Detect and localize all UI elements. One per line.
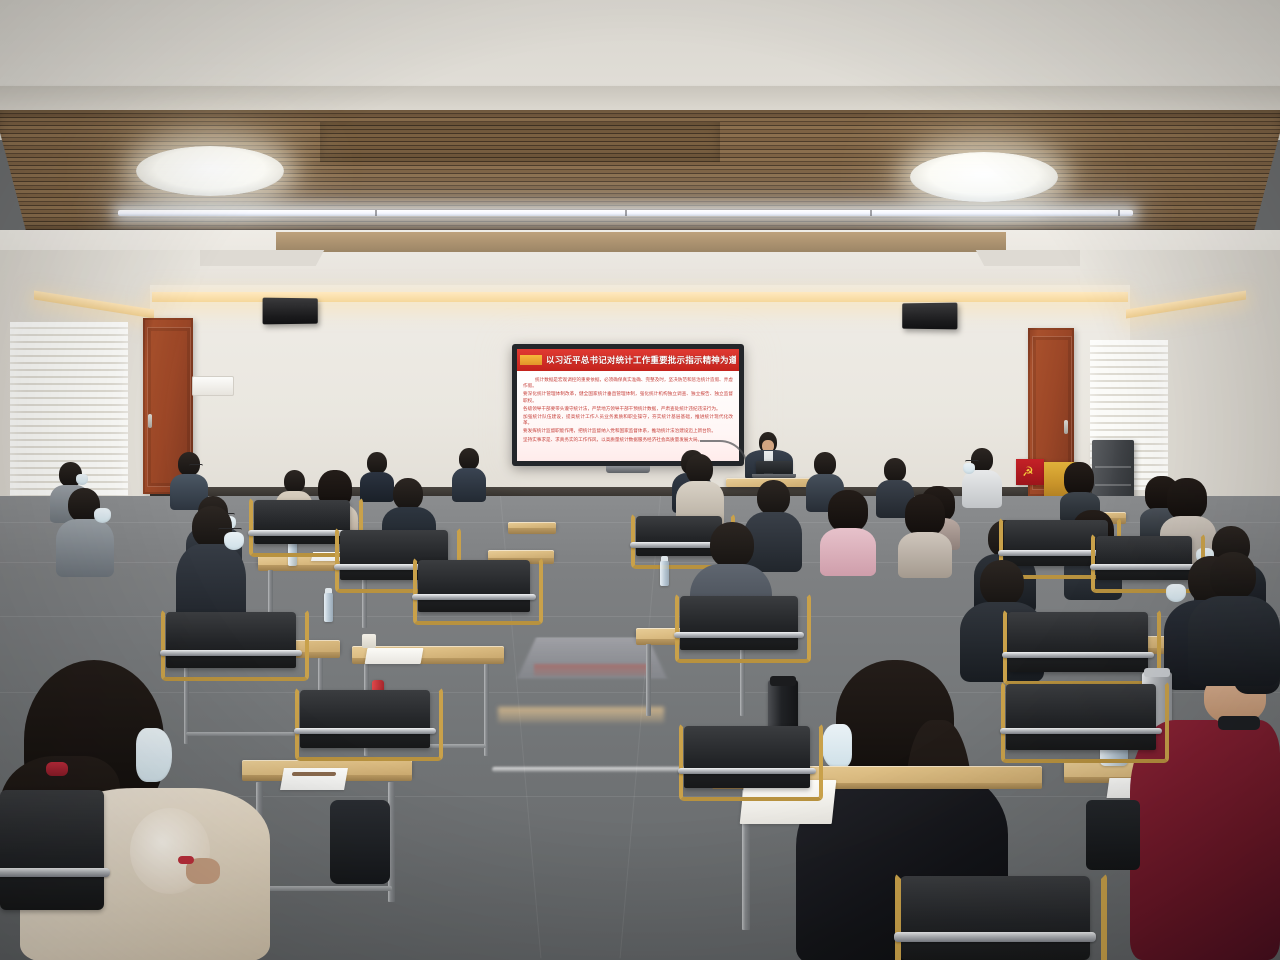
attendee	[1188, 552, 1280, 682]
glasses-icon	[189, 464, 203, 472]
hammer-sickle-icon: ☭	[1021, 465, 1035, 479]
ceiling-soffit	[0, 86, 1280, 112]
chair[interactable]	[680, 596, 798, 650]
bracelet	[178, 856, 194, 864]
floor-reflection-red-band	[534, 664, 650, 676]
face-mask-icon	[963, 463, 975, 474]
conference-room-photo: ☭ 以习近平总书记对统计工作重要批示指示精神为遵循 统计数据是宏观调控的重要依据…	[0, 0, 1280, 960]
cabinet-seam	[1095, 466, 1131, 468]
ceiling-recess-wood	[276, 232, 1006, 252]
water-bottle[interactable]	[660, 560, 669, 586]
chair[interactable]	[300, 690, 430, 748]
face-mask-icon	[822, 724, 852, 768]
slide-paragraph: 要发挥统计监督职能作用，把统计监督纳入党和国家监督体系，推动统计法治建设迈上新台…	[523, 428, 733, 434]
pen[interactable]	[292, 772, 337, 776]
dome-light-right-icon	[910, 152, 1058, 202]
chair[interactable]	[684, 726, 810, 788]
face-mask-icon	[94, 508, 111, 523]
chair[interactable]	[900, 876, 1090, 960]
chair[interactable]	[418, 560, 530, 612]
thermos-cap	[770, 676, 796, 686]
chair[interactable]	[0, 790, 104, 910]
cabinet-seam	[1095, 484, 1131, 486]
attendee	[898, 494, 952, 576]
floor-reflection-warm-light	[498, 707, 664, 723]
bag	[330, 800, 390, 884]
face-mask-icon	[224, 532, 244, 550]
slat-panel-shadow-band	[320, 122, 720, 162]
slide-header: 以习近平总书记对统计工作重要批示指示精神为遵循	[517, 349, 739, 371]
slide-title: 以习近平总书记对统计工作重要批示指示精神为遵循	[546, 354, 736, 366]
slide-paragraph: 加强统计队伍建设，提高统计工作人员业务素质和职业操守，夯实统计基层基础，推进统计…	[523, 414, 733, 426]
cup[interactable]	[362, 634, 376, 648]
attendee-pink-floral	[820, 490, 876, 574]
slide-accent-block	[520, 355, 542, 365]
bag	[1086, 800, 1140, 870]
watch	[1218, 716, 1260, 730]
door-handle-icon[interactable]	[1064, 420, 1068, 434]
strip-seam	[625, 210, 627, 216]
slide-paragraph: 各级领导干部要带头遵守统计法，严禁地方领导干部干预统计数据，严肃查处统计违纪违法…	[523, 406, 733, 412]
attendee	[452, 448, 486, 500]
floor-reflection-strip-light	[492, 767, 688, 772]
slide-paragraph: 统计数据是宏观调控的重要依据，必须确保真实准确、完整及时，坚决防范和惩治统计造假…	[523, 377, 733, 389]
strip-seam	[375, 210, 377, 216]
face-mask-icon	[76, 474, 88, 485]
slide-paragraph: 要深化统计管理体制改革，健全国家统计垂直管理体制，强化统计机构独立调查、独立报告…	[523, 391, 733, 403]
speaker-right-icon	[902, 303, 957, 330]
strip-seam	[870, 210, 872, 216]
desk	[508, 522, 556, 529]
party-flag: ☭	[1016, 459, 1044, 485]
chair[interactable]	[1006, 684, 1156, 750]
hair-tie	[46, 762, 68, 776]
face-mask-icon	[1166, 584, 1186, 602]
notebook[interactable]	[365, 648, 424, 664]
speaker-left-icon	[263, 298, 318, 325]
strip-seam	[1118, 210, 1120, 216]
water-bottle[interactable]	[324, 592, 333, 622]
dome-light-left-icon	[136, 146, 284, 196]
face-mask-icon	[136, 728, 172, 782]
wall-plate[interactable]	[192, 376, 234, 396]
attendee	[962, 448, 1002, 506]
presenter-laptop-screen[interactable]	[756, 461, 792, 474]
display-stand	[606, 466, 650, 473]
attendee	[56, 488, 114, 576]
door-handle-icon[interactable]	[148, 414, 152, 428]
